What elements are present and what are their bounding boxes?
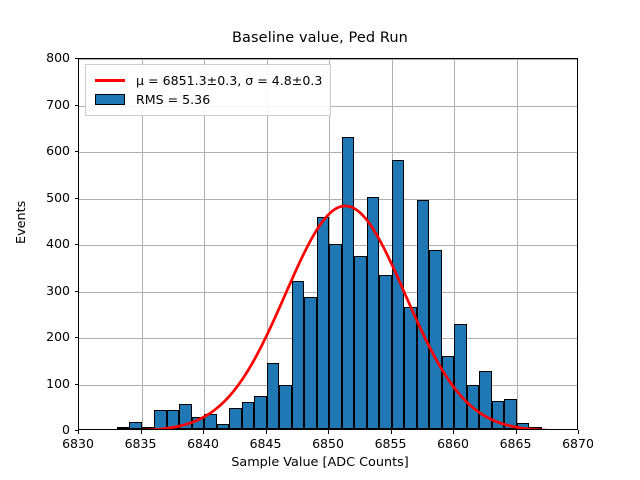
y-tick-label: 0: [30, 424, 70, 437]
legend-label-rms: RMS = 5.36: [136, 92, 210, 107]
x-tick-label: 6845: [236, 438, 296, 451]
legend-line-icon: [93, 79, 127, 82]
x-tick-label: 6835: [111, 438, 171, 451]
legend-box: μ = 6851.3±0.3, σ = 4.8±0.3 RMS = 5.36: [85, 64, 331, 116]
x-tick-label: 6860: [423, 438, 483, 451]
y-tick-mark: [75, 151, 79, 152]
y-tick-mark: [75, 105, 79, 106]
y-tick-mark: [75, 384, 79, 385]
x-tick-mark: [516, 430, 517, 434]
x-tick-mark: [266, 430, 267, 434]
chart-title: Baseline value, Ped Run: [0, 30, 640, 46]
x-tick-mark: [328, 430, 329, 434]
y-tick-label: 500: [30, 192, 70, 205]
y-tick-label: 800: [30, 52, 70, 65]
x-tick-label: 6870: [548, 438, 608, 451]
x-tick-mark: [141, 430, 142, 434]
y-tick-label: 700: [30, 99, 70, 112]
y-tick-mark: [75, 337, 79, 338]
x-tick-mark: [78, 430, 79, 434]
y-tick-label: 400: [30, 238, 70, 251]
x-tick-label: 6865: [486, 438, 546, 451]
y-tick-mark: [75, 198, 79, 199]
gaussian-path: [79, 206, 578, 430]
x-tick-mark: [391, 430, 392, 434]
x-tick-label: 6840: [173, 438, 233, 451]
x-tick-label: 6830: [48, 438, 108, 451]
legend-patch-icon: [93, 94, 127, 105]
legend-entry-fit: μ = 6851.3±0.3, σ = 4.8±0.3: [93, 71, 322, 90]
x-tick-mark: [453, 430, 454, 434]
y-tick-label: 600: [30, 145, 70, 158]
y-tick-mark: [75, 58, 79, 59]
figure-canvas: Baseline value, Ped Run 0100200300400500…: [0, 0, 640, 480]
x-tick-label: 6855: [361, 438, 421, 451]
x-tick-mark: [578, 430, 579, 434]
y-tick-mark: [75, 244, 79, 245]
y-axis-label: Events: [14, 201, 29, 244]
y-tick-label: 200: [30, 331, 70, 344]
y-tick-label: 100: [30, 378, 70, 391]
legend-label-fit: μ = 6851.3±0.3, σ = 4.8±0.3: [136, 73, 322, 88]
y-tick-label: 300: [30, 285, 70, 298]
x-tick-mark: [203, 430, 204, 434]
x-tick-label: 6850: [298, 438, 358, 451]
y-tick-mark: [75, 291, 79, 292]
x-axis-label: Sample Value [ADC Counts]: [0, 455, 640, 470]
legend-entry-rms: RMS = 5.36: [93, 90, 322, 109]
